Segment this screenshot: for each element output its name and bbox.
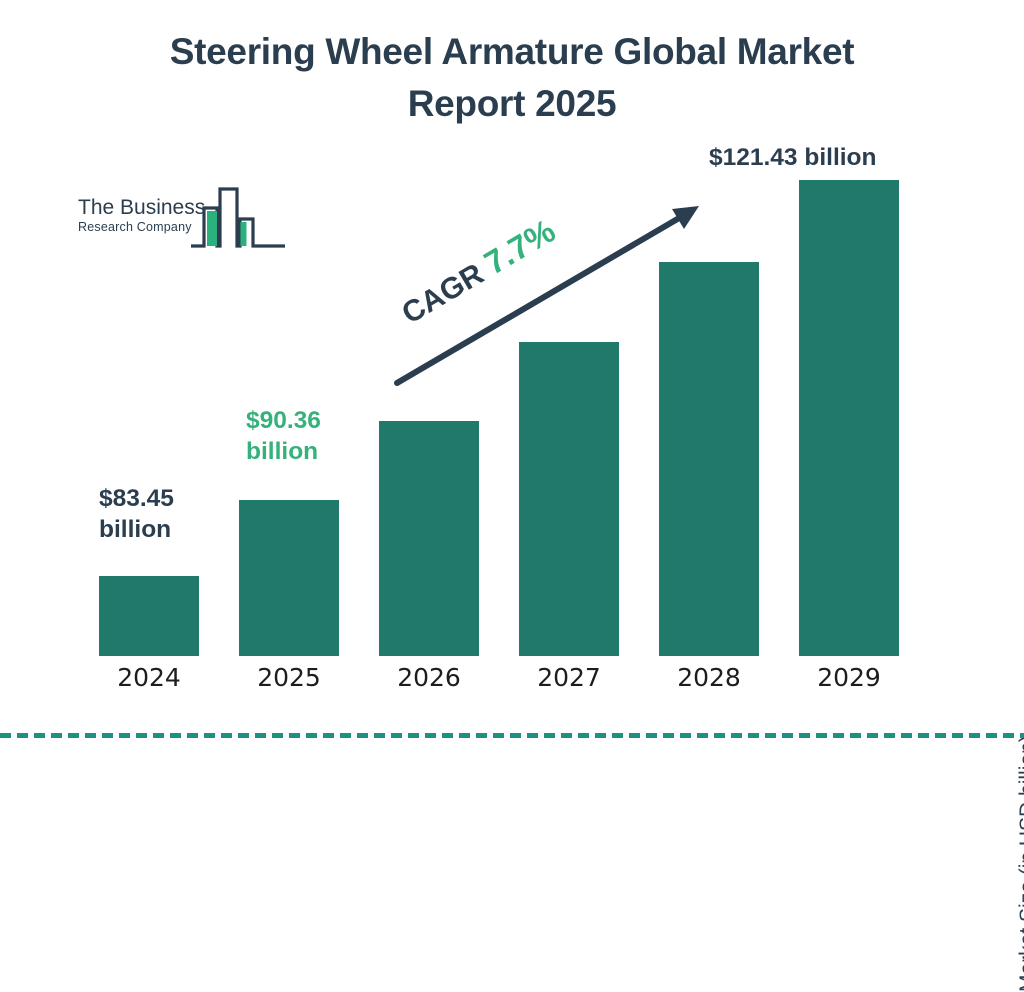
bar-2029 bbox=[799, 180, 899, 656]
cagr-value: 7.7% bbox=[478, 212, 562, 282]
x-axis-label-2028: 2028 bbox=[649, 663, 769, 692]
bar-2024 bbox=[99, 576, 199, 656]
value-label-2025-line2: billion bbox=[246, 436, 321, 467]
y-axis-title: Market Size (in USD billion) bbox=[1016, 662, 1024, 992]
cagr-label: CAGR bbox=[396, 257, 489, 330]
x-axis-label-2029: 2029 bbox=[789, 663, 909, 692]
chart-page: Steering Wheel Armature Global Market Re… bbox=[0, 0, 1024, 768]
bar-2028 bbox=[659, 262, 759, 656]
cagr-annotation: CAGR 7.7% bbox=[394, 212, 562, 332]
x-axis-label-2024: 2024 bbox=[89, 663, 209, 692]
x-axis-label-2026: 2026 bbox=[369, 663, 489, 692]
x-axis-label-2025: 2025 bbox=[229, 663, 349, 692]
value-label-2024: $83.45 billion bbox=[99, 483, 174, 545]
x-axis-label-2027: 2027 bbox=[509, 663, 629, 692]
bar-chart: 2024 2025 2026 2027 2028 2029 $83.45 bil… bbox=[0, 0, 1024, 768]
bar-2027 bbox=[519, 342, 619, 656]
value-label-2029-line1: $121.43 billion bbox=[709, 142, 877, 173]
value-label-2025: $90.36 billion bbox=[246, 405, 321, 467]
value-label-2024-line2: billion bbox=[99, 514, 174, 545]
bar-2025 bbox=[239, 500, 339, 656]
value-label-2024-line1: $83.45 bbox=[99, 483, 174, 514]
value-label-2029: $121.43 billion bbox=[709, 142, 877, 173]
footer-divider bbox=[0, 733, 1024, 738]
value-label-2025-line1: $90.36 bbox=[246, 405, 321, 436]
bar-2026 bbox=[379, 421, 479, 656]
